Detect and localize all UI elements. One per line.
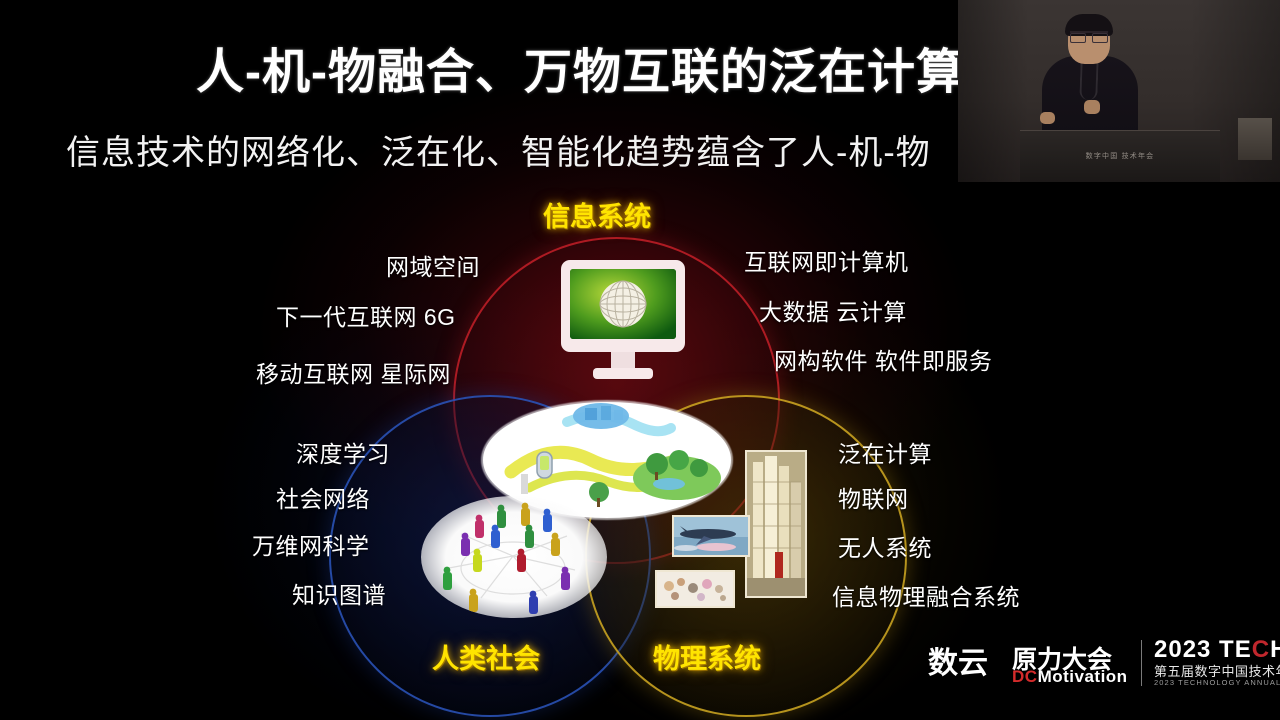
label-top-right-0: 互联网即计算机 — [744, 243, 909, 277]
monitor-globe-icon — [553, 256, 693, 388]
logo-year-tech: 2023 TECH — [1154, 636, 1280, 664]
stage-side-panel — [1238, 118, 1272, 160]
podium-text: 数字中国 技术年会 — [1020, 151, 1220, 161]
venn-caption-information-system: 信息系统 — [543, 195, 651, 234]
label-bottom-left-0: 深度学习 — [296, 435, 390, 469]
label-top-left-1: 下一代互联网 6G — [276, 298, 456, 332]
airplane-photo — [672, 515, 750, 557]
crowd-photo — [655, 570, 735, 608]
label-top-right-2: 网构软件 软件即服务 — [774, 342, 992, 376]
label-bottom-left-1: 社会网络 — [276, 480, 370, 514]
label-bottom-right-3: 信息物理融合系统 — [832, 578, 1020, 612]
label-bottom-right-1: 物联网 — [838, 480, 909, 514]
speaker-video-inset[interactable]: 数字中国 技术年会 — [958, 0, 1280, 182]
label-top-right-1: 大数据 云计算 — [759, 293, 907, 327]
logo-year-spark: C — [1252, 636, 1270, 663]
logo-dc-text: DC — [1012, 667, 1038, 686]
lanyard-icon — [1079, 58, 1098, 101]
logo-dc-motivation: DCMotivation — [1012, 667, 1128, 687]
label-bottom-left-2: 万维网科学 — [252, 527, 370, 561]
label-bottom-left-3: 知识图谱 — [292, 576, 386, 610]
label-top-left-0: 网域空间 — [386, 248, 480, 282]
logo-motivation-text: Motivation — [1038, 667, 1128, 686]
logo-divider — [1141, 640, 1142, 686]
label-bottom-right-0: 泛在计算 — [838, 435, 932, 469]
venn-caption-human-society: 人类社会 — [432, 637, 540, 676]
venn-caption-physical-system: 物理系统 — [653, 637, 761, 676]
podium: 数字中国 技术年会 — [1020, 130, 1220, 182]
speaker-hand-left — [1040, 112, 1055, 124]
speaker-hand-right — [1084, 100, 1100, 114]
city-building-photo — [745, 450, 807, 598]
label-top-left-2: 移动互联网 星际网 — [256, 355, 451, 389]
people-network-art — [421, 496, 607, 618]
logo-brand-shuyun: 数云 — [928, 638, 988, 682]
logo-year-suffix: H — [1270, 636, 1280, 663]
logo-event-en: 2023 TECHNOLOGY ANNUAL SUMMIT — [1154, 678, 1280, 687]
glasses-icon — [1070, 31, 1108, 39]
logo-year-prefix: 2023 TE — [1154, 636, 1252, 663]
label-bottom-right-2: 无人系统 — [838, 529, 932, 563]
conference-logo: 数云 原力大会 DCMotivation 2023 TECH 第五届数字中国技术… — [928, 636, 1266, 694]
